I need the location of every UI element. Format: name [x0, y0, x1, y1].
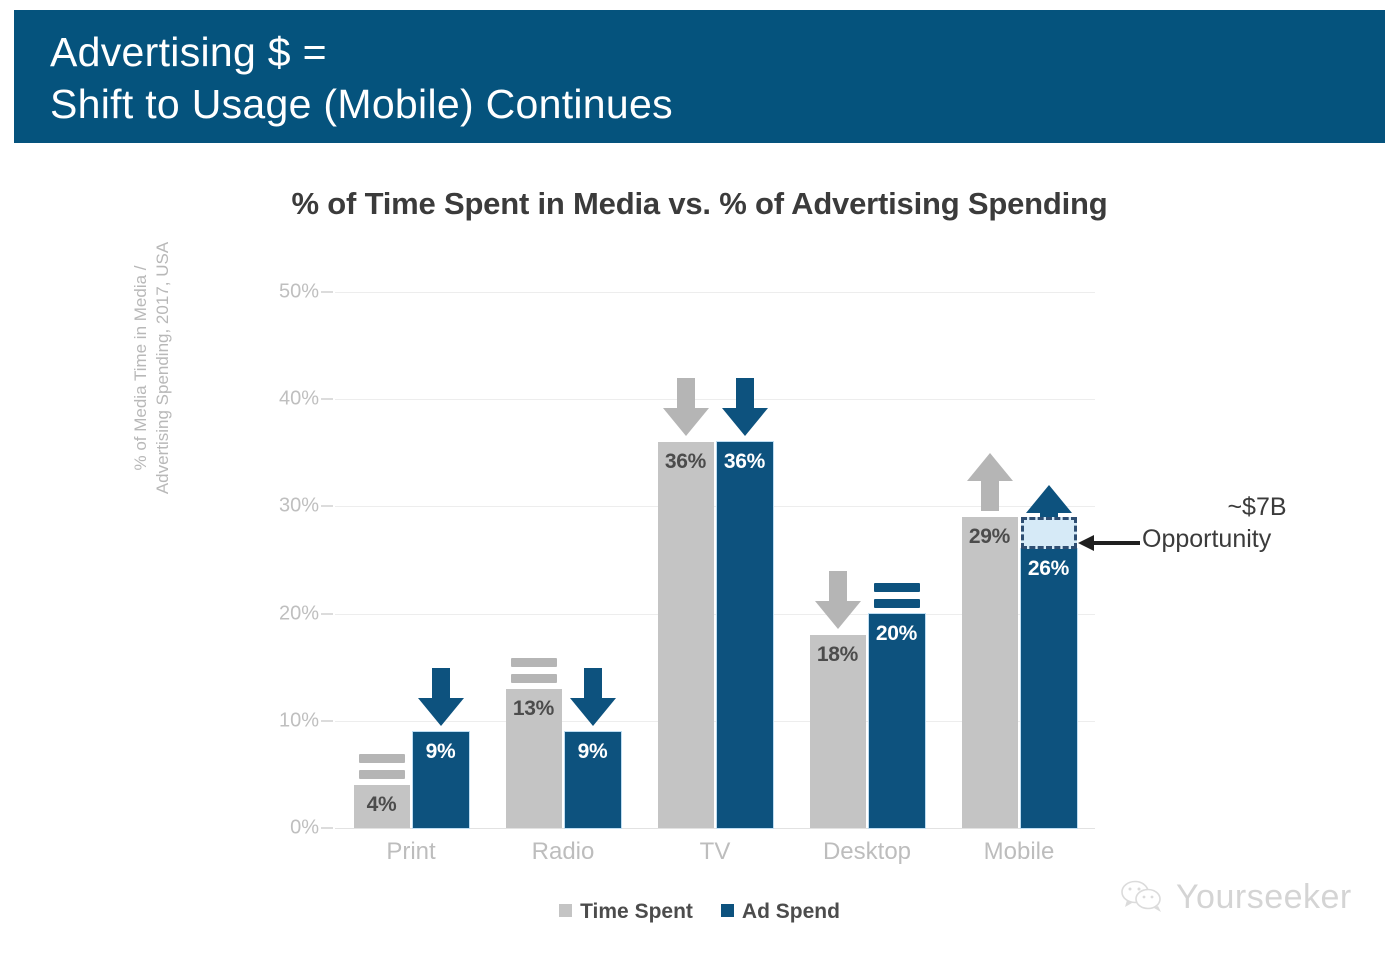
arrow-down-glyph — [722, 378, 768, 436]
x-axis: PrintRadioTVDesktopMobile — [335, 838, 1095, 878]
bar-group: 4%9% — [335, 292, 487, 828]
y-axis-tick-mark — [321, 398, 333, 400]
opportunity-pointer-arrow — [1078, 533, 1140, 553]
y-axis-title-line-2: Advertising Spending, 2017, USA — [152, 198, 174, 538]
bar-chart: % of Media Time in Media / Advertising S… — [0, 260, 1399, 900]
legend-item[interactable]: Time Spent — [559, 900, 693, 924]
bar-value-label: 13% — [506, 697, 562, 721]
gridline — [335, 828, 1095, 829]
bar-value-label: 4% — [354, 793, 410, 817]
legend-label: Ad Spend — [742, 900, 840, 923]
watermark: Yourseeker — [1120, 878, 1352, 917]
y-axis-tick-label: 50% — [279, 281, 319, 304]
arrow-down-icon — [570, 668, 616, 726]
bar-value-label: 9% — [413, 740, 469, 764]
equal-indicator-icon — [511, 658, 557, 683]
banner-title-line-1: Advertising $ = — [50, 26, 1385, 78]
bar-group: 18%20% — [791, 292, 943, 828]
bar-value-label: 29% — [962, 525, 1018, 549]
equal-bar — [359, 754, 405, 763]
bar-time-spent-mobile[interactable] — [962, 517, 1018, 828]
arrow-down-glyph — [663, 378, 709, 436]
x-axis-label-tv: TV — [639, 838, 791, 866]
equal-bar — [359, 770, 405, 779]
arrow-up-icon — [967, 453, 1013, 511]
arrow-down-glyph — [815, 571, 861, 629]
banner-title-line-2: Shift to Usage (Mobile) Continues — [50, 78, 1385, 130]
equal-bar — [511, 658, 557, 667]
equal-indicator-icon — [359, 754, 405, 779]
y-axis-tick-mark — [321, 613, 333, 615]
bar-value-label: 9% — [565, 740, 621, 764]
equal-bar — [511, 674, 557, 683]
legend-item[interactable]: Ad Spend — [721, 900, 840, 924]
x-axis-label-radio: Radio — [487, 838, 639, 866]
opportunity-annotation: ~$7B Opportunity — [1142, 491, 1372, 555]
arrow-down-icon — [815, 571, 861, 629]
legend-swatch — [721, 904, 734, 917]
opportunity-amount: ~$7B — [1142, 491, 1372, 523]
equal-bar — [874, 599, 920, 608]
y-axis-tick-label: 20% — [279, 602, 319, 625]
opportunity-label: Opportunity — [1142, 523, 1372, 555]
y-axis-tick-label: 30% — [279, 495, 319, 518]
chart-title: % of Time Spent in Media vs. % of Advert… — [0, 186, 1399, 222]
bar-value-label: 20% — [869, 622, 925, 646]
arrow-down-icon — [722, 378, 768, 436]
x-axis-label-mobile: Mobile — [943, 838, 1095, 866]
x-axis-label-desktop: Desktop — [791, 838, 943, 866]
equal-bar — [874, 583, 920, 592]
wechat-bubbles-icon — [1120, 879, 1166, 917]
bar-value-label: 36% — [658, 450, 714, 474]
y-axis-tick-mark — [321, 505, 333, 507]
bar-value-label: 18% — [810, 643, 866, 667]
y-axis-tick-label: 0% — [290, 817, 319, 840]
bar-time-spent-tv[interactable] — [658, 442, 714, 828]
bar-value-label: 36% — [717, 450, 773, 474]
arrow-down-glyph — [418, 668, 464, 726]
bar-ad-spend-mobile[interactable] — [1021, 549, 1077, 828]
title-banner: Advertising $ = Shift to Usage (Mobile) … — [14, 10, 1385, 143]
bar-value-label: 26% — [1021, 557, 1077, 581]
watermark-label: Yourseeker — [1176, 878, 1352, 917]
arrow-down-icon — [418, 668, 464, 726]
bar-group: 13%9% — [487, 292, 639, 828]
y-axis-tick-mark — [321, 291, 333, 293]
arrow-down-icon — [663, 378, 709, 436]
plot-area: 0%10%20%30%40%50%4%9%13%9%36%36%18%20%29… — [335, 292, 1095, 828]
bar-group: 29%26% — [943, 292, 1095, 828]
y-axis-title: % of Media Time in Media / Advertising S… — [130, 198, 190, 538]
opportunity-box — [1021, 517, 1077, 549]
arrow-down-glyph — [570, 668, 616, 726]
legend-swatch — [559, 904, 572, 917]
legend-label: Time Spent — [580, 900, 693, 923]
y-axis-title-line-1: % of Media Time in Media / — [130, 198, 152, 538]
bar-group: 36%36% — [639, 292, 791, 828]
y-axis-tick-mark — [321, 720, 333, 722]
equal-indicator-icon — [874, 583, 920, 608]
y-axis-tick-mark — [321, 827, 333, 829]
y-axis-tick-label: 10% — [279, 709, 319, 732]
bar-ad-spend-desktop[interactable] — [869, 614, 925, 828]
x-axis-label-print: Print — [335, 838, 487, 866]
arrow-up-glyph — [967, 453, 1013, 511]
y-axis-tick-label: 40% — [279, 388, 319, 411]
bar-ad-spend-tv[interactable] — [717, 442, 773, 828]
